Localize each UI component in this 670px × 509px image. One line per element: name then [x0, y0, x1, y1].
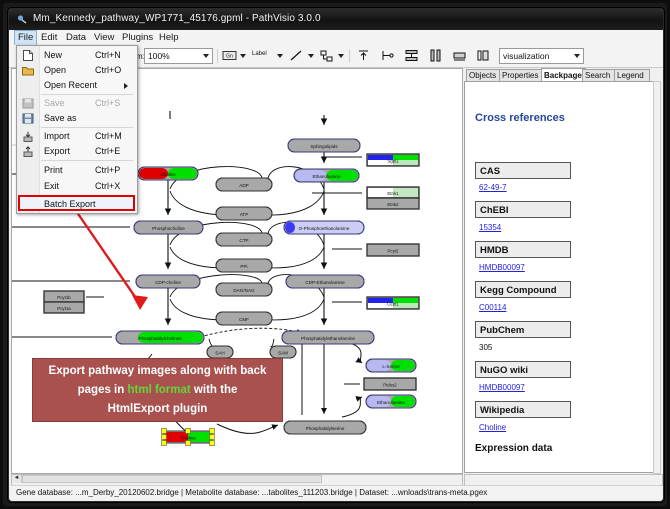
- file-menu-exit-accel: Ctrl+X: [95, 181, 120, 191]
- file-menu-open-recent[interactable]: Open Recent: [17, 78, 137, 93]
- xref-value-chebi[interactable]: 15354: [479, 223, 501, 232]
- pathway-node-label: L-Serine: [382, 364, 400, 369]
- callout-line-1: Export pathway images along with back: [33, 365, 282, 377]
- pathway-gene-node[interactable]: Ptdss2: [364, 378, 416, 390]
- interaction-button[interactable]: [319, 48, 334, 63]
- visualization-value: visualization: [503, 51, 549, 61]
- file-menu-print[interactable]: Print Ctrl+P: [17, 163, 137, 178]
- xref-value-pubchem: 305: [479, 343, 492, 352]
- status-text: Gene database: ...m_Derby_20120602.bridg…: [16, 488, 487, 497]
- menu-file[interactable]: File: [14, 30, 37, 46]
- file-menu-export-accel: Ctrl+E: [95, 146, 120, 156]
- callout-line-2-highlight: html format: [127, 384, 190, 396]
- xref-source-hmdb: HMDB: [475, 241, 571, 258]
- pathway-node-label: O-Phosphoethanolamine: [299, 226, 350, 231]
- common-width-button[interactable]: [428, 48, 443, 63]
- pathway-node[interactable]: Phosphatidylethanolamine: [282, 331, 374, 344]
- pathway-gene-label: Ptdss2: [383, 382, 397, 387]
- submenu-arrow-icon: [124, 83, 128, 89]
- file-menu-open[interactable]: Open Ctrl+O: [17, 63, 137, 78]
- file-menu-import-accel: Ctrl+M: [95, 131, 122, 141]
- pathway-node[interactable]: SAM: [270, 346, 296, 358]
- pathvisio-icon: [17, 14, 28, 25]
- selection-handle[interactable]: [162, 441, 167, 446]
- file-menu-open-recent-label: Open Recent: [44, 80, 97, 90]
- pathway-node[interactable]: Phosphocholine: [134, 221, 203, 234]
- pathway-node-label: Phosphocholine: [152, 226, 185, 231]
- pathway-node-label: Ethanolamine: [312, 174, 341, 179]
- pathway-gene-label: Pcyt1b: [57, 295, 71, 300]
- file-menu-save-as[interactable]: Save as: [17, 111, 137, 126]
- menu-separator-2: [41, 127, 133, 128]
- chevron-down-icon-2: [574, 54, 580, 58]
- menu-view[interactable]: View: [91, 31, 117, 44]
- title-bar: Mm_Kennedy_pathway_WP1771_45176.gpml - P…: [9, 9, 663, 30]
- file-menu-import[interactable]: Import Ctrl+M: [17, 129, 137, 144]
- xref-value-kegg[interactable]: C00114: [479, 303, 506, 312]
- file-menu-open-accel: Ctrl+O: [95, 65, 121, 75]
- selection-handle[interactable]: [210, 441, 215, 446]
- file-menu-new-label: New: [44, 50, 62, 60]
- datanode-button[interactable]: Gn: [222, 48, 237, 63]
- interaction-dropdown-icon[interactable]: [338, 54, 344, 58]
- expression-data-title: Expression data: [475, 443, 552, 454]
- pathway-gene-label: Sgpl1: [387, 158, 399, 163]
- file-menu-open-label: Open: [44, 65, 66, 75]
- status-bar: Gene database: ...m_Derby_20120602.bridg…: [11, 485, 661, 499]
- pathway-gene-label: Pcyt2: [388, 248, 400, 253]
- pathway-node[interactable]: Choline: [162, 429, 215, 446]
- pathway-node-label: ADP: [239, 183, 248, 188]
- toolbar-separator: [217, 49, 218, 63]
- pathway-node-label: Phosphatidylethanolamine: [301, 336, 355, 341]
- selection-handle[interactable]: [210, 435, 215, 440]
- selection-handle[interactable]: [186, 429, 191, 434]
- pathway-gene-label: Pcyt1a: [57, 306, 71, 311]
- file-menu-export[interactable]: Export Ctrl+E: [17, 144, 137, 159]
- file-menu-batch-export-label: Batch Export: [44, 199, 96, 209]
- label-button[interactable]: Label: [252, 51, 267, 57]
- xref-source-pubchem: PubChem: [475, 321, 571, 338]
- pathway-node[interactable]: Sphingolipids: [288, 139, 360, 152]
- pathway-node-label: CTP: [239, 238, 248, 243]
- visualization-combo[interactable]: visualization: [499, 48, 584, 64]
- scroll-thumb[interactable]: [22, 475, 322, 483]
- file-menu-popup[interactable]: New Ctrl+N Open Ctrl+O Open Recent Save …: [16, 45, 138, 214]
- pathway-node-label: SAM: [278, 351, 288, 356]
- selection-handle[interactable]: [162, 435, 167, 440]
- callout-line-2: pages in html format with the: [33, 384, 282, 396]
- file-menu-save-accel: Ctrl+S: [95, 98, 120, 108]
- xref-source-kegg: Kegg Compound: [475, 281, 571, 298]
- xref-value-nugo[interactable]: HMDB00097: [479, 383, 525, 392]
- file-menu-batch-export[interactable]: Batch Export: [17, 197, 137, 212]
- xref-value-hmdb[interactable]: HMDB00097: [479, 263, 525, 272]
- scroll-left-icon[interactable]: ◄: [12, 475, 22, 483]
- pathway-node[interactable]: ADP: [216, 178, 272, 191]
- import-icon: [22, 131, 34, 142]
- pathway-gene-node[interactable]: Cept1: [367, 297, 419, 309]
- pathway-node-label: Phosphatidylcholines: [138, 336, 182, 341]
- file-menu-new[interactable]: New Ctrl+N: [17, 48, 137, 63]
- xref-source-wikipedia: Wikipedia: [475, 401, 571, 418]
- dock-scrollbar[interactable]: [653, 81, 661, 474]
- file-menu-print-label: Print: [44, 165, 63, 175]
- callout-line-2b: with the: [191, 384, 238, 396]
- toolbar-separator-2: [349, 49, 350, 63]
- status-area: ◄ Gene database: ...m_Derby_20120602.bri…: [11, 474, 661, 499]
- file-menu-save-label: Save: [44, 98, 65, 108]
- pathway-node-label: DAG/NAG: [233, 288, 255, 293]
- file-menu-save-as-label: Save as: [44, 113, 77, 123]
- menu-help[interactable]: Help: [156, 31, 182, 44]
- pathway-node-label: CDP-Ethanolamine: [305, 280, 345, 285]
- window-title: Mm_Kennedy_pathway_WP1771_45176.gpml - P…: [33, 13, 321, 24]
- new-file-icon: [22, 50, 34, 61]
- align-left-button[interactable]: [380, 48, 395, 63]
- menu-bar: File Edit Data View Plugins Help: [9, 30, 663, 46]
- open-folder-icon: [22, 65, 34, 76]
- menu-separator-1: [41, 94, 133, 95]
- file-menu-exit-label: Exit: [44, 181, 59, 191]
- pathway-gene-label: Etnk2: [387, 202, 399, 207]
- pathway-node-label: Sphingolipids: [310, 144, 338, 149]
- label-dropdown-icon[interactable]: [277, 54, 283, 58]
- pathway-node-label: ATP: [240, 212, 249, 217]
- file-menu-export-label: Export: [44, 146, 70, 156]
- stack-center-button[interactable]: [404, 48, 419, 63]
- pathway-gene-node[interactable]: Pcyt2: [367, 244, 419, 256]
- pathway-node-label: CDP-choline: [155, 280, 181, 285]
- pathway-node-label: Choline: [180, 436, 196, 441]
- menu-plugins[interactable]: Plugins: [119, 31, 156, 44]
- bring-front-button[interactable]: [476, 48, 491, 63]
- file-menu-exit[interactable]: Exit Ctrl+X: [17, 179, 137, 194]
- pathway-node[interactable]: Ethanolamine: [366, 395, 416, 408]
- pathway-node[interactable]: SAH: [207, 346, 233, 358]
- pathway-gene-label: Etnk1: [387, 191, 399, 196]
- pathway-node-label: CMF: [239, 317, 249, 322]
- pathway-node-label: SAH: [215, 351, 224, 356]
- pathway-gene-node[interactable]: Etnk1: [367, 187, 419, 198]
- common-height-button[interactable]: [452, 48, 467, 63]
- pathway-node[interactable]: Ethanolamine: [294, 169, 359, 182]
- xref-source-nugo: NuGO wiki: [475, 361, 571, 378]
- save-disk-icon: [22, 98, 34, 109]
- menu-edit[interactable]: Edit: [38, 31, 60, 44]
- datanode-dropdown-icon[interactable]: [240, 54, 246, 58]
- align-top-button[interactable]: [356, 48, 371, 63]
- file-menu-save: Save Ctrl+S: [17, 96, 137, 111]
- annotation-callout: Export pathway images along with back pa…: [32, 358, 283, 422]
- pathway-node-label: Ethanolamine: [377, 400, 406, 405]
- callout-line-3: HtmlExport plugin: [33, 403, 282, 415]
- zoom-value: 100%: [148, 51, 170, 61]
- pathway-gene-node[interactable]: Sgpl1: [367, 154, 419, 166]
- pathway-node-label: PPi: [240, 264, 247, 269]
- pathway-node[interactable]: ATP: [216, 207, 272, 220]
- pathway-node[interactable]: Choline: [138, 167, 198, 180]
- file-menu-print-accel: Ctrl+P: [95, 165, 120, 175]
- chevron-down-icon: [203, 54, 209, 58]
- pathway-gene-node[interactable]: Etnk2: [367, 198, 419, 209]
- desktop-background: Mm_Kennedy_pathway_WP1771_45176.gpml - P…: [0, 0, 670, 509]
- save-as-icon: [22, 113, 34, 124]
- cross-references-title: Cross references: [475, 112, 565, 124]
- dock-tabstrip: Objects Properties Backpage Search Legen…: [464, 68, 661, 82]
- zoom-combo[interactable]: 100%: [144, 48, 213, 64]
- selection-handle[interactable]: [210, 429, 215, 434]
- xref-value-cas[interactable]: 62-49-7: [479, 183, 507, 192]
- pathway-node[interactable]: CDP-Ethanolamine: [286, 275, 364, 288]
- selection-handle[interactable]: [162, 429, 167, 434]
- pathway-gene-node[interactable]: Pcyt1b: [44, 291, 84, 302]
- xref-value-wikipedia[interactable]: Choline: [479, 423, 506, 432]
- export-icon: [22, 146, 34, 157]
- pathvisio-window: Mm_Kennedy_pathway_WP1771_45176.gpml - P…: [8, 8, 664, 502]
- pathway-node[interactable]: Phosphatidylcholines: [116, 331, 204, 344]
- file-menu-new-accel: Ctrl+N: [95, 50, 121, 60]
- xref-source-cas: CAS: [475, 162, 571, 179]
- pathway-node[interactable]: CDP-choline: [136, 275, 200, 288]
- xref-source-chebi: ChEBI: [475, 201, 571, 218]
- svg-text:Gn: Gn: [226, 54, 233, 60]
- pathway-node[interactable]: CTP: [216, 233, 272, 246]
- pathway-node[interactable]: PPi: [216, 259, 272, 272]
- line-button[interactable]: [289, 48, 304, 63]
- file-menu-import-label: Import: [44, 131, 70, 141]
- line-dropdown-icon[interactable]: [308, 54, 314, 58]
- pathway-node[interactable]: DAG/NAG: [216, 283, 272, 296]
- backpage-panel: Cross references CAS 62-49-7 ChEBI 15354…: [464, 81, 656, 473]
- pathway-node[interactable]: Phosphatidylserine: [284, 421, 366, 434]
- selection-handle[interactable]: [186, 441, 191, 446]
- callout-line-2a: pages in: [78, 384, 128, 396]
- menu-data[interactable]: Data: [63, 31, 89, 44]
- pathway-node[interactable]: CMF: [216, 312, 272, 325]
- menu-separator-3: [41, 160, 133, 161]
- pathway-node[interactable]: O-Phosphoethanolamine: [284, 221, 364, 234]
- pathway-gene-label: Cept1: [387, 301, 399, 306]
- pathway-gene-node[interactable]: Pcyt1a: [44, 302, 84, 313]
- pathway-node[interactable]: L-Serine: [366, 359, 416, 372]
- side-dock: Objects Properties Backpage Search Legen…: [464, 68, 661, 472]
- pathway-node-label: Phosphatidylserine: [306, 426, 345, 431]
- pathway-node-label: Choline: [160, 172, 176, 177]
